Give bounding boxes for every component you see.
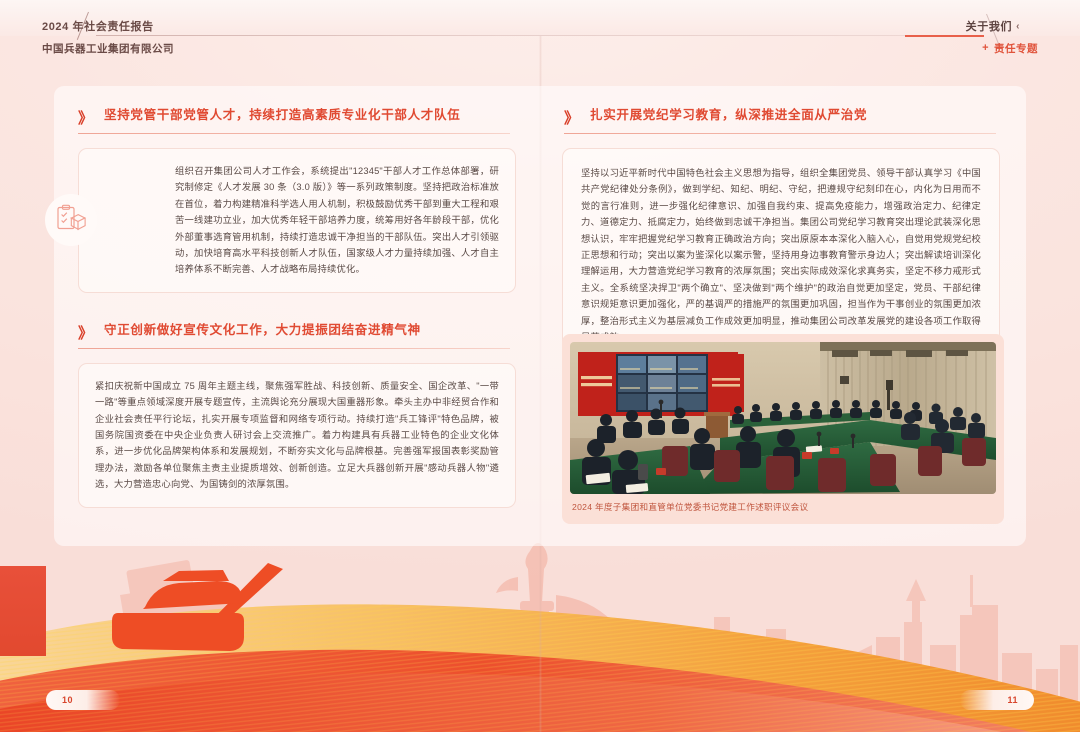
page-number-right: 11 (960, 690, 1034, 710)
report-page-spread: 2024 年社会责任报告 中国兵器工业集团有限公司 关于我们 ‹ + 责任专题 … (0, 0, 1080, 732)
plus-icon: + (982, 43, 989, 54)
left-edge-block (0, 566, 46, 656)
double-chevron-icon: 》 (78, 322, 90, 343)
section-rule (78, 348, 510, 349)
section-heading-discipline: 》 扎实开展党纪学习教育，纵深推进全面从严治党 (564, 106, 996, 134)
about-us-link[interactable]: 关于我们 ‹ (966, 18, 1020, 34)
body-text-culture: 紧扣庆祝新中国成立 75 周年主题主线，聚焦强军胜战、科技创新、质量安全、国企改… (95, 378, 499, 493)
right-column: 》 扎实开展党纪学习教育，纵深推进全面从严治党 坚持以习近平新时代中国特色社会主… (540, 86, 1026, 546)
section-heading-culture: 》 守正创新做好宣传文化工作，大力提振团结奋进精气神 (78, 321, 510, 349)
page-header: 2024 年社会责任报告 中国兵器工业集团有限公司 关于我们 ‹ + 责任专题 (0, 0, 1080, 66)
double-chevron-icon: 》 (564, 107, 576, 128)
clipboard-cube-icon (45, 194, 97, 246)
about-us-label: 关于我们 (966, 18, 1012, 34)
header-rule-accent (905, 35, 984, 37)
conference-photo (570, 342, 996, 494)
body-text-discipline: 坚持以习近平新时代中国特色社会主义思想为指导，组织全集团党员、领导干部认真学习《… (581, 165, 981, 345)
section-rule (78, 133, 510, 134)
chevron-left-icon: ‹ (1016, 21, 1020, 32)
text-box-culture: 紧扣庆祝新中国成立 75 周年主题主线，聚焦强军胜战、科技创新、质量安全、国企改… (78, 363, 516, 508)
text-box-talent: 组织召开集团公司人才工作会，系统提出"12345"干部人才工作总体部署，研究制修… (78, 148, 516, 293)
left-column: 》 坚持党管干部党管人才，持续打造高素质专业化干部人才队伍 (54, 86, 540, 546)
header-rule (96, 35, 984, 36)
header-band (0, 0, 1080, 36)
section-title-discipline: 扎实开展党纪学习教育，纵深推进全面从严治党 (590, 106, 996, 124)
page-number-left: 10 (46, 690, 120, 710)
content-card: 》 坚持党管干部党管人才，持续打造高素质专业化干部人才队伍 (54, 86, 1026, 546)
section-title-talent: 坚持党管干部党管人才，持续打造高素质专业化干部人才队伍 (104, 106, 510, 124)
company-name: 中国兵器工业集团有限公司 (42, 41, 174, 56)
text-box-discipline: 坚持以习近平新时代中国特色社会主义思想为指导，组织全集团党员、领导干部认真学习《… (562, 148, 1000, 362)
section-title-culture: 守正创新做好宣传文化工作，大力提振团结奋进精气神 (104, 321, 510, 339)
body-text-talent: 组织召开集团公司人才工作会，系统提出"12345"干部人才工作总体部署，研究制修… (175, 163, 499, 278)
responsibility-topic-link[interactable]: + 责任专题 (982, 41, 1038, 56)
responsibility-topic-label: 责任专题 (994, 41, 1038, 56)
section-heading-talent: 》 坚持党管干部党管人才，持续打造高素质专业化干部人才队伍 (78, 106, 510, 134)
section-rule (564, 133, 996, 134)
double-chevron-icon: 》 (78, 107, 90, 128)
photo-caption: 2024 年度子集团和直管单位党委书记党建工作述职评议会议 (570, 501, 996, 513)
photo-card: 2024 年度子集团和直管单位党委书记党建工作述职评议会议 (562, 334, 1004, 524)
report-title: 2024 年社会责任报告 (42, 18, 154, 34)
